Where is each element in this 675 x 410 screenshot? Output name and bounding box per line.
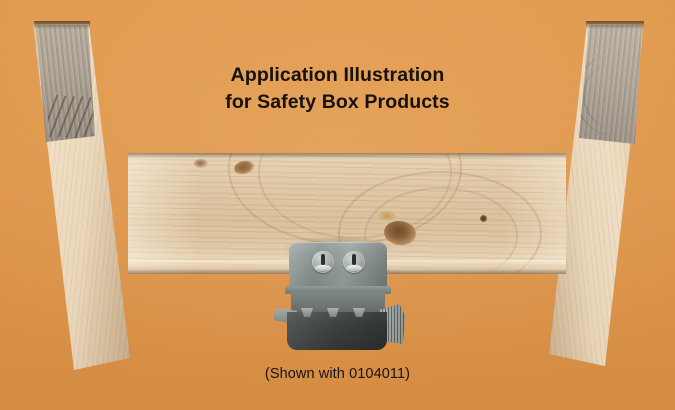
knockout-icon xyxy=(312,251,334,273)
knockout-slot xyxy=(321,254,325,265)
box-lower-shading xyxy=(287,312,387,350)
box-lower-face xyxy=(287,312,387,350)
caption-text: (Shown with 0104011) xyxy=(0,366,675,382)
safety-box-device xyxy=(281,242,395,342)
illustration-canvas: Application Illustration for Safety Box … xyxy=(0,0,675,410)
title-line-2: for Safety Box Products xyxy=(0,89,675,116)
knockout-highlight xyxy=(315,265,331,271)
box-top-face xyxy=(289,242,387,290)
post-top-shadow xyxy=(34,21,90,29)
beam-highlight-left xyxy=(128,153,198,274)
wood-knot xyxy=(378,211,396,221)
page-title: Application Illustration for Safety Box … xyxy=(0,62,675,116)
wood-knot xyxy=(194,159,208,168)
wood-knot xyxy=(480,215,487,222)
knockout-slot xyxy=(352,254,356,265)
beam-top-edge xyxy=(128,153,566,158)
knockout-highlight xyxy=(346,265,362,271)
title-line-1: Application Illustration xyxy=(0,62,675,89)
metal-sheen xyxy=(289,242,387,290)
knockout-icon xyxy=(343,251,365,273)
post-top-shadow xyxy=(586,21,644,29)
